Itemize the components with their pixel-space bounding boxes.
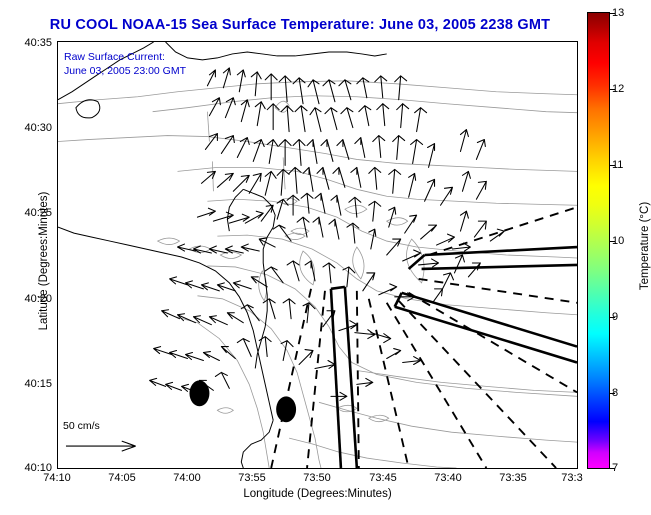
y-axis-label: Latitude (Degrees:Minutes) — [38, 171, 50, 351]
colorbar-tick-2: 11 — [612, 159, 623, 171]
raw-current-timestamp: June 03, 2005 23:00 GMT — [64, 65, 186, 77]
ytick-5: 40:10 — [10, 462, 52, 474]
map-graphics — [58, 42, 577, 468]
map-plot-area[interactable]: Raw Surface Current: June 03, 2005 23:00… — [57, 41, 578, 469]
xtick-4: 73:50 — [303, 472, 331, 484]
ytick-1: 40:30 — [10, 122, 52, 134]
xtick-5: 73:45 — [369, 472, 397, 484]
radar-sector-solid-lines — [331, 247, 577, 468]
colorbar-tick-3: 10 — [612, 235, 624, 247]
scale-reference-arrow — [66, 441, 136, 451]
temperature-colorbar[interactable] — [587, 12, 610, 469]
colorbar-tick-4: 9 — [612, 311, 618, 323]
ytick-4: 40:15 — [10, 378, 52, 390]
xtick-3: 73:55 — [238, 472, 266, 484]
x-axis-label: Longitude (Degrees:Minutes) — [57, 488, 578, 500]
xtick-8: 73:3 — [561, 472, 582, 484]
colorbar-tick-0: 13 — [612, 7, 624, 19]
radar-sector-dashed-lines — [271, 207, 577, 468]
figure-title: RU COOL NOAA-15 Sea Surface Temperature:… — [0, 17, 600, 33]
colorbar-tick-6: 7 — [612, 462, 618, 474]
figure-canvas: RU COOL NOAA-15 Sea Surface Temperature:… — [0, 0, 651, 515]
ytick-0: 40:35 — [10, 37, 52, 49]
xtick-1: 74:05 — [108, 472, 136, 484]
surface-current-vectors — [150, 68, 505, 400]
radar-station-markers — [189, 380, 296, 422]
colorbar-label: Temperature (°C) — [639, 166, 651, 326]
colorbar-tick-5: 8 — [612, 387, 618, 399]
xtick-7: 73:35 — [499, 472, 527, 484]
raw-current-annotation: Raw Surface Current: — [64, 51, 165, 63]
xtick-6: 73:40 — [434, 472, 462, 484]
scale-arrow-label: 50 cm/s — [63, 420, 100, 432]
sst-contour-lines — [58, 81, 577, 468]
xtick-2: 74:00 — [173, 472, 201, 484]
colorbar-tick-1: 12 — [612, 83, 624, 95]
